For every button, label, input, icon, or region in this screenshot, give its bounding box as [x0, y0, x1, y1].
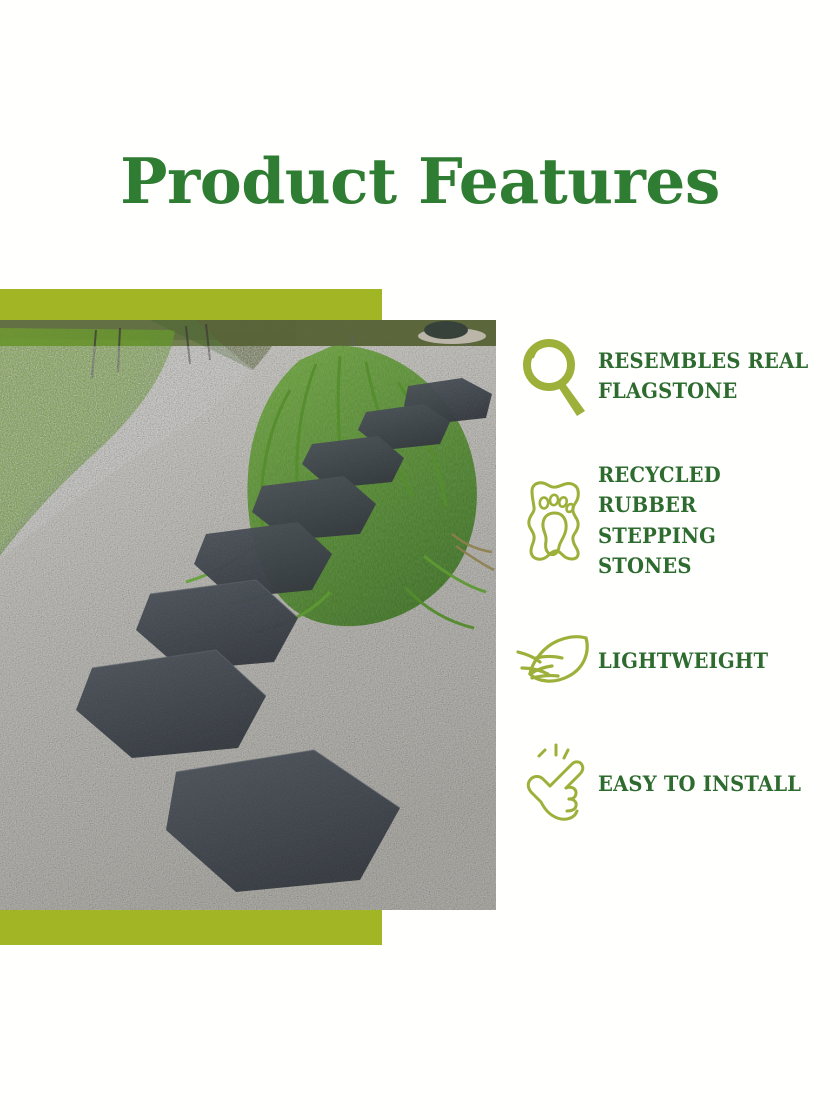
- accent-bar-bottom: [0, 910, 382, 945]
- feature-item-lightweight: LIGHTWEIGHT: [512, 626, 832, 696]
- page-header: Product Features: [0, 150, 840, 213]
- feature-label: LIGHTWEIGHT: [598, 646, 768, 676]
- feature-label: EASY TO INSTALL: [598, 769, 801, 799]
- feature-item-recycled-rubber-stepping-stones: RECYCLED RUBBER STEPPING STONES: [512, 460, 832, 582]
- product-photo-block: [0, 289, 496, 945]
- feature-list: RESEMBLES REAL FLAGSTONE RECYCLED RUBBER…: [512, 330, 832, 830]
- feature-item-resembles-real-flagstone: RESEMBLES REAL FLAGSTONE: [512, 330, 832, 422]
- accent-bar-top: [0, 289, 382, 320]
- page-title: Product Features: [0, 150, 840, 213]
- feather-icon: [512, 626, 598, 696]
- feature-label: RESEMBLES REAL FLAGSTONE: [598, 346, 808, 407]
- tapping-hand-icon: [512, 738, 598, 830]
- magnifier-icon: [512, 330, 598, 422]
- feature-item-easy-to-install: EASY TO INSTALL: [512, 738, 832, 830]
- feature-label: RECYCLED RUBBER STEPPING STONES: [598, 460, 816, 582]
- stone-footprint-icon: [512, 475, 598, 567]
- product-photo: [0, 320, 496, 910]
